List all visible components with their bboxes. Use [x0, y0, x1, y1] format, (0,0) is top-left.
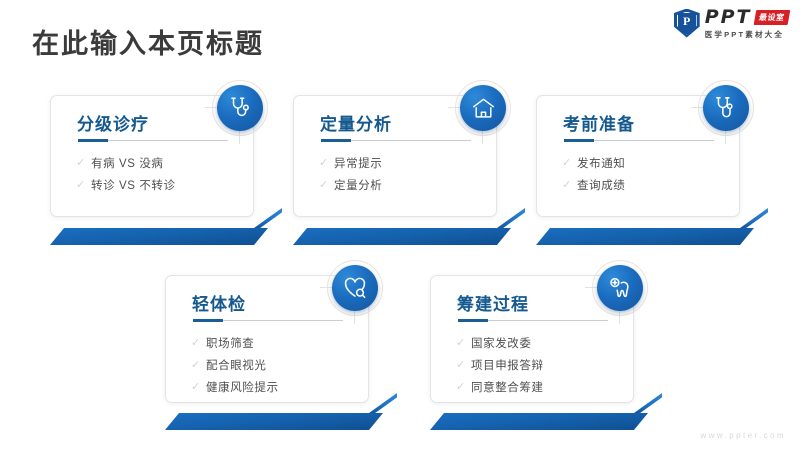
badge-connector-bottom [239, 131, 240, 144]
badge-connector-left [205, 107, 217, 108]
list-item[interactable]: ✓ 转诊 VS 不转诊 [76, 174, 176, 196]
card-base-wedge [254, 208, 282, 228]
list-item-label: 职场筛查 [206, 335, 254, 351]
check-icon: ✓ [562, 180, 577, 191]
title-rule [321, 139, 471, 142]
list-item-label: 配合眼视光 [206, 357, 267, 373]
card-base-slab [536, 228, 754, 245]
check-icon: ✓ [456, 382, 471, 393]
list-item[interactable]: ✓ 查询成绩 [562, 174, 625, 196]
list-item-label: 国家发改委 [471, 335, 532, 351]
badge-connector-left [691, 107, 703, 108]
stethoscope-icon [217, 85, 263, 131]
card-5[interactable]: 筹建过程 ✓ 国家发改委 ✓ 项目申报答辩 ✓ 同意整合筹建 [430, 275, 678, 430]
check-icon: ✓ [319, 158, 334, 169]
check-icon: ✓ [191, 360, 206, 371]
card-base-wedge [740, 208, 768, 228]
badge-connector-bottom [619, 311, 620, 324]
title-rule [78, 139, 228, 142]
list-item-label: 查询成绩 [577, 177, 625, 193]
badge-connector-left [585, 287, 597, 288]
logo-subtitle: 医学PPT素材大全 [705, 29, 788, 40]
check-icon: ✓ [76, 158, 91, 169]
check-icon: ✓ [191, 382, 206, 393]
check-icon: ✓ [456, 360, 471, 371]
list-item-label: 定量分析 [334, 177, 382, 193]
list-item[interactable]: ✓ 发布通知 [562, 152, 625, 174]
list-item[interactable]: ✓ 有病 VS 没病 [76, 152, 176, 174]
check-icon: ✓ [76, 180, 91, 191]
card-base-slab [165, 413, 383, 430]
card-title: 轻体检 [192, 290, 246, 315]
title-rule [564, 139, 714, 142]
stethoscope-alt-icon [703, 85, 749, 131]
check-icon: ✓ [319, 180, 334, 191]
badge-connector-bottom [482, 131, 483, 144]
badge-connector-left [448, 107, 460, 108]
title-rule [458, 319, 608, 322]
card-title: 筹建过程 [457, 290, 529, 315]
card-bullet-list: ✓ 职场筛查 ✓ 配合眼视光 ✓ 健康风险提示 [191, 332, 279, 398]
card-bullet-list: ✓ 有病 VS 没病 ✓ 转诊 VS 不转诊 [76, 152, 176, 196]
card-base-wedge [369, 393, 397, 413]
check-icon: ✓ [562, 158, 577, 169]
brand-logo: P PPT 最设室 医学PPT素材大全 [674, 6, 788, 40]
list-item[interactable]: ✓ 国家发改委 [456, 332, 544, 354]
list-item-label: 同意整合筹建 [471, 379, 544, 395]
list-item-label: 健康风险提示 [206, 379, 279, 395]
card-4[interactable]: 轻体检 ✓ 职场筛查 ✓ 配合眼视光 ✓ 健康风险提示 [165, 275, 413, 430]
shield-letter: P [674, 9, 700, 38]
hospital-house-icon [460, 85, 506, 131]
check-icon: ✓ [191, 338, 206, 349]
tooth-plus-icon [597, 265, 643, 311]
list-item[interactable]: ✓ 健康风险提示 [191, 376, 279, 398]
card-3[interactable]: 考前准备 ✓ 发布通知 ✓ 查询成绩 [536, 95, 784, 245]
list-item-label: 转诊 VS 不转诊 [91, 177, 176, 193]
card-title: 定量分析 [320, 110, 392, 135]
list-item[interactable]: ✓ 异常提示 [319, 152, 382, 174]
list-item[interactable]: ✓ 定量分析 [319, 174, 382, 196]
shield-icon: P [674, 9, 700, 38]
card-bullet-list: ✓ 异常提示 ✓ 定量分析 [319, 152, 382, 196]
card-base-slab [430, 413, 648, 430]
list-item[interactable]: ✓ 同意整合筹建 [456, 376, 544, 398]
card-title: 考前准备 [563, 110, 635, 135]
check-icon: ✓ [456, 338, 471, 349]
slide-canvas: 在此输入本页标题 P PPT 最设室 医学PPT素材大全 分级诊疗 ✓ [0, 0, 800, 450]
badge-connector-bottom [725, 131, 726, 144]
list-item[interactable]: ✓ 项目申报答辩 [456, 354, 544, 376]
card-base-wedge [497, 208, 525, 228]
card-base-slab [50, 228, 268, 245]
card-bullet-list: ✓ 国家发改委 ✓ 项目申报答辩 ✓ 同意整合筹建 [456, 332, 544, 398]
list-item-label: 发布通知 [577, 155, 625, 171]
logo-badge: 最设室 [753, 10, 789, 25]
card-bullet-list: ✓ 发布通知 ✓ 查询成绩 [562, 152, 625, 196]
title-rule [193, 319, 343, 322]
badge-connector-bottom [354, 311, 355, 324]
page-title: 在此输入本页标题 [32, 22, 264, 61]
heart-search-icon [332, 265, 378, 311]
card-2[interactable]: 定量分析 ✓ 异常提示 ✓ 定量分析 [293, 95, 541, 245]
card-1[interactable]: 分级诊疗 ✓ 有病 VS 没病 ✓ 转诊 VS 不转诊 [50, 95, 298, 245]
badge-connector-left [320, 287, 332, 288]
footer-url: www.ppter.com [701, 431, 786, 440]
list-item[interactable]: ✓ 职场筛查 [191, 332, 279, 354]
logo-wordmark: PPT [705, 6, 752, 28]
list-item-label: 异常提示 [334, 155, 382, 171]
card-base-slab [293, 228, 511, 245]
card-title: 分级诊疗 [77, 110, 149, 135]
list-item[interactable]: ✓ 配合眼视光 [191, 354, 279, 376]
card-base-wedge [634, 393, 662, 413]
list-item-label: 项目申报答辩 [471, 357, 544, 373]
list-item-label: 有病 VS 没病 [91, 155, 164, 171]
